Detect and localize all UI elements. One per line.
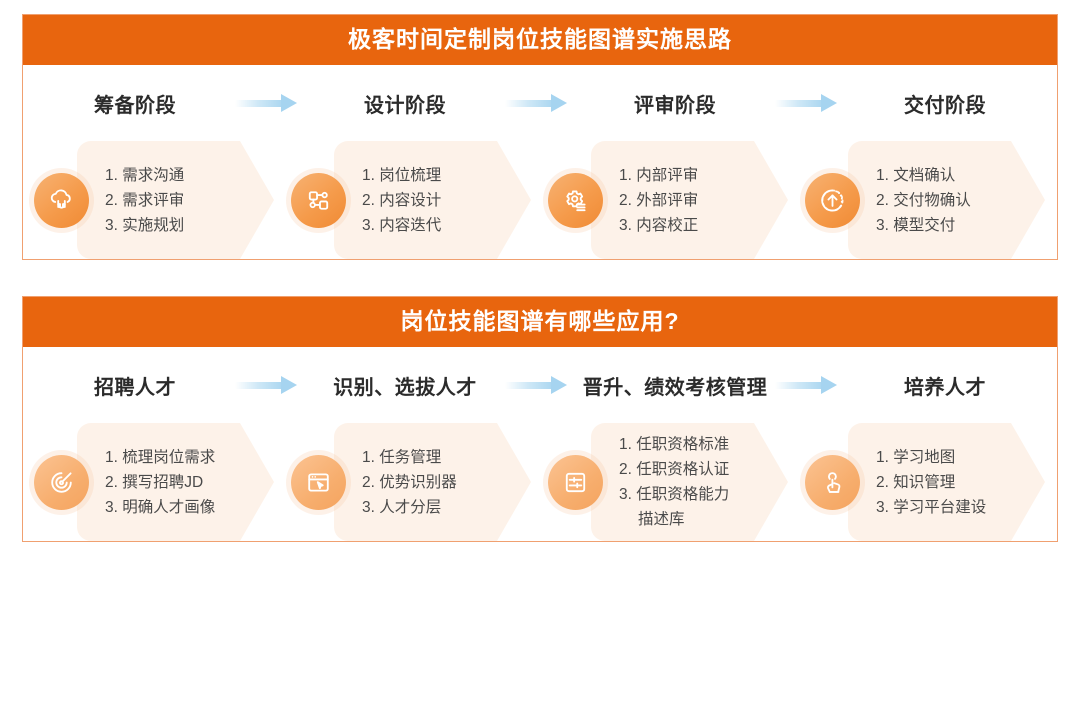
window-cursor-icon bbox=[291, 455, 346, 510]
stage-label-row: 筹备阶段 设计阶段 评审阶段 交付阶段 bbox=[23, 65, 1057, 141]
stage-label-4: 培养人才 bbox=[847, 371, 1043, 400]
card-title: 极客时间定制岗位技能图谱实施思路 bbox=[23, 15, 1057, 65]
infographic-page: 极客时间定制岗位技能图谱实施思路 筹备阶段 设计阶段 评审阶段 交付阶段 bbox=[0, 0, 1080, 704]
stage-label-1: 筹备阶段 bbox=[37, 89, 233, 118]
stage-item: 3. 实施规划 bbox=[105, 213, 184, 238]
stage-chevron-row: 1. 需求沟通 2. 需求评审 3. 实施规划 bbox=[23, 141, 1057, 259]
stage-label-1: 招聘人才 bbox=[37, 371, 233, 400]
stage-item: 2. 外部评审 bbox=[619, 188, 698, 213]
stage-chevron-2: 1. 任务管理 2. 优势识别器 3. 人才分层 bbox=[288, 423, 535, 541]
cloud-headset-icon bbox=[34, 173, 89, 228]
stage-items: 1. 任务管理 2. 优势识别器 3. 人才分层 bbox=[362, 445, 457, 520]
stage-items: 1. 内部评审 2. 外部评审 3. 内容校正 bbox=[619, 163, 698, 238]
stage-chevron-row: 1. 梳理岗位需求 2. 撰写招聘JD 3. 明确人才画像 bbox=[23, 423, 1057, 541]
card-title: 岗位技能图谱有哪些应用? bbox=[23, 297, 1057, 347]
stage-items: 1. 学习地图 2. 知识管理 3. 学习平台建设 bbox=[876, 445, 986, 520]
stage-item: 2. 交付物确认 bbox=[876, 188, 971, 213]
stage-chevron-4: 1. 文档确认 2. 交付物确认 3. 模型交付 bbox=[802, 141, 1049, 259]
tap-hand-icon bbox=[805, 455, 860, 510]
arrow-right-icon-3 bbox=[773, 375, 847, 395]
stage-item: 3. 内容校正 bbox=[619, 213, 698, 238]
arrow-right-icon-1 bbox=[233, 375, 307, 395]
sliders-panel-icon bbox=[548, 455, 603, 510]
stage-chevron-1: 1. 梳理岗位需求 2. 撰写招聘JD 3. 明确人才画像 bbox=[31, 423, 278, 541]
stage-item: 3. 内容迭代 bbox=[362, 213, 441, 238]
radar-scan-icon bbox=[34, 455, 89, 510]
stage-item: 3. 任职资格能力 bbox=[619, 482, 729, 507]
stage-items: 1. 岗位梳理 2. 内容设计 3. 内容迭代 bbox=[362, 163, 441, 238]
stage-label-3: 晋升、绩效考核管理 bbox=[577, 371, 773, 400]
stage-chevron-3: 1. 任职资格标准 2. 任职资格认证 3. 任职资格能力 描述库 bbox=[545, 423, 792, 541]
gear-list-icon bbox=[548, 173, 603, 228]
stage-item: 1. 岗位梳理 bbox=[362, 163, 441, 188]
stage-items: 1. 任职资格标准 2. 任职资格认证 3. 任职资格能力 描述库 bbox=[619, 432, 729, 532]
stage-item: 1. 梳理岗位需求 bbox=[105, 445, 215, 470]
stage-item: 1. 内部评审 bbox=[619, 163, 698, 188]
stage-chevron-4: 1. 学习地图 2. 知识管理 3. 学习平台建设 bbox=[802, 423, 1049, 541]
stage-items: 1. 梳理岗位需求 2. 撰写招聘JD 3. 明确人才画像 bbox=[105, 445, 215, 520]
card-applications: 岗位技能图谱有哪些应用? 招聘人才 识别、选拔人才 晋升、绩效考核管理 培养人才 bbox=[22, 296, 1058, 542]
stage-label-2: 设计阶段 bbox=[307, 89, 503, 118]
upload-circle-icon bbox=[805, 173, 860, 228]
stage-item: 2. 优势识别器 bbox=[362, 470, 457, 495]
stage-item: 2. 撰写招聘JD bbox=[105, 470, 215, 495]
arrow-right-icon-2 bbox=[503, 93, 577, 113]
stage-item: 1. 任务管理 bbox=[362, 445, 457, 470]
stage-label-4: 交付阶段 bbox=[847, 89, 1043, 118]
card-body: 招聘人才 识别、选拔人才 晋升、绩效考核管理 培养人才 bbox=[23, 347, 1057, 541]
stage-item: 2. 任职资格认证 bbox=[619, 457, 729, 482]
stage-item: 3. 模型交付 bbox=[876, 213, 971, 238]
stage-item: 3. 学习平台建设 bbox=[876, 495, 986, 520]
stage-item: 1. 学习地图 bbox=[876, 445, 986, 470]
card-body: 筹备阶段 设计阶段 评审阶段 交付阶段 bbox=[23, 65, 1057, 259]
node-graph-icon bbox=[291, 173, 346, 228]
arrow-right-icon-2 bbox=[503, 375, 577, 395]
card-implementation-approach: 极客时间定制岗位技能图谱实施思路 筹备阶段 设计阶段 评审阶段 交付阶段 bbox=[22, 14, 1058, 260]
stage-item: 2. 需求评审 bbox=[105, 188, 184, 213]
stage-chevron-1: 1. 需求沟通 2. 需求评审 3. 实施规划 bbox=[31, 141, 278, 259]
stage-chevron-3: 1. 内部评审 2. 外部评审 3. 内容校正 bbox=[545, 141, 792, 259]
arrow-right-icon-3 bbox=[773, 93, 847, 113]
stage-label-3: 评审阶段 bbox=[577, 89, 773, 118]
stage-items: 1. 需求沟通 2. 需求评审 3. 实施规划 bbox=[105, 163, 184, 238]
stage-item: 3. 明确人才画像 bbox=[105, 495, 215, 520]
stage-item: 1. 文档确认 bbox=[876, 163, 971, 188]
stage-item: 1. 任职资格标准 bbox=[619, 432, 729, 457]
stage-chevron-2: 1. 岗位梳理 2. 内容设计 3. 内容迭代 bbox=[288, 141, 535, 259]
stage-items: 1. 文档确认 2. 交付物确认 3. 模型交付 bbox=[876, 163, 971, 238]
stage-item: 2. 知识管理 bbox=[876, 470, 986, 495]
arrow-right-icon-1 bbox=[233, 93, 307, 113]
stage-label-row: 招聘人才 识别、选拔人才 晋升、绩效考核管理 培养人才 bbox=[23, 347, 1057, 423]
stage-item: 1. 需求沟通 bbox=[105, 163, 184, 188]
stage-label-2: 识别、选拔人才 bbox=[307, 371, 503, 400]
stage-item: 2. 内容设计 bbox=[362, 188, 441, 213]
stage-item: 描述库 bbox=[619, 507, 729, 532]
stage-item: 3. 人才分层 bbox=[362, 495, 457, 520]
